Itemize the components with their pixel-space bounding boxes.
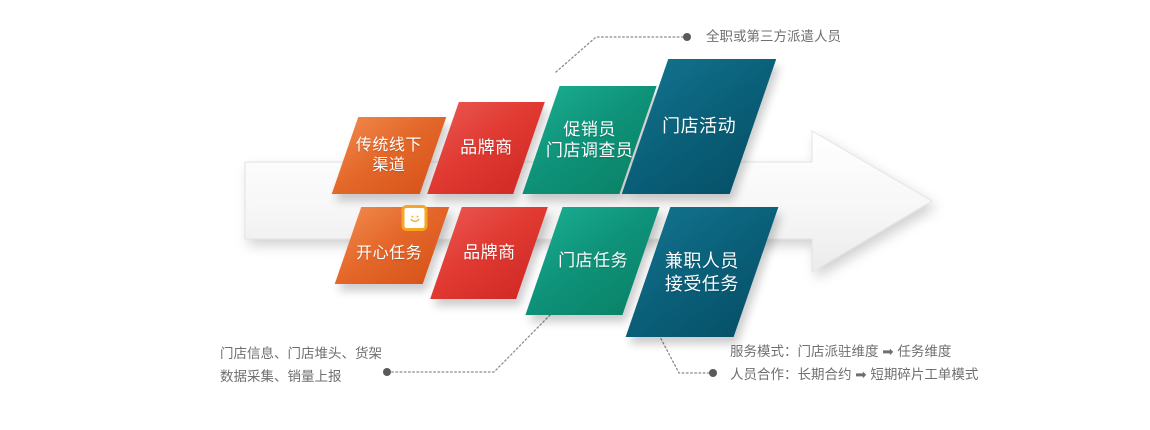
smiley-icon [401,205,427,231]
note-bottom-right: 服务模式：门店派驻维度 ➡ 任务维度 人员合作：长期合约 ➡ 短期碎片工单模式 [730,340,978,386]
note-top-right: 全职或第三方派遣人员 [706,25,841,48]
bottom-step-4-label: 兼职人员 接受任务 [665,250,739,295]
smiley-face-glyph [407,211,422,226]
top-step-2-label: 品牌商 [460,137,513,158]
top-step-1-label: 传统线下 渠道 [356,136,422,176]
note-bottom-left-line-2: 数据采集、销量上报 [220,365,382,388]
note-bottom-right-line-1: 服务模式：门店派驻维度 ➡ 任务维度 [730,340,978,363]
bottom-step-1-label: 开心任务 [356,244,422,264]
note-bottom-left-line-1: 门店信息、门店堆头、货架 [220,342,382,365]
bottom-step-2-label: 品牌商 [463,242,516,263]
top-step-3-label: 促销员 门店调查员 [546,119,634,162]
diagram-canvas: 传统线下 渠道 品牌商 促销员 门店调查员 门店活动 开心任务 品牌商 门店任务… [0,0,1150,430]
bottom-step-3-label: 门店任务 [558,250,628,271]
top-step-4-label: 门店活动 [662,115,736,138]
note-bottom-left: 门店信息、门店堆头、货架 数据采集、销量上报 [220,342,382,388]
note-bottom-right-line-2: 人员合作：长期合约 ➡ 短期碎片工单模式 [730,363,978,386]
note-top-right-line-1: 全职或第三方派遣人员 [706,25,841,48]
